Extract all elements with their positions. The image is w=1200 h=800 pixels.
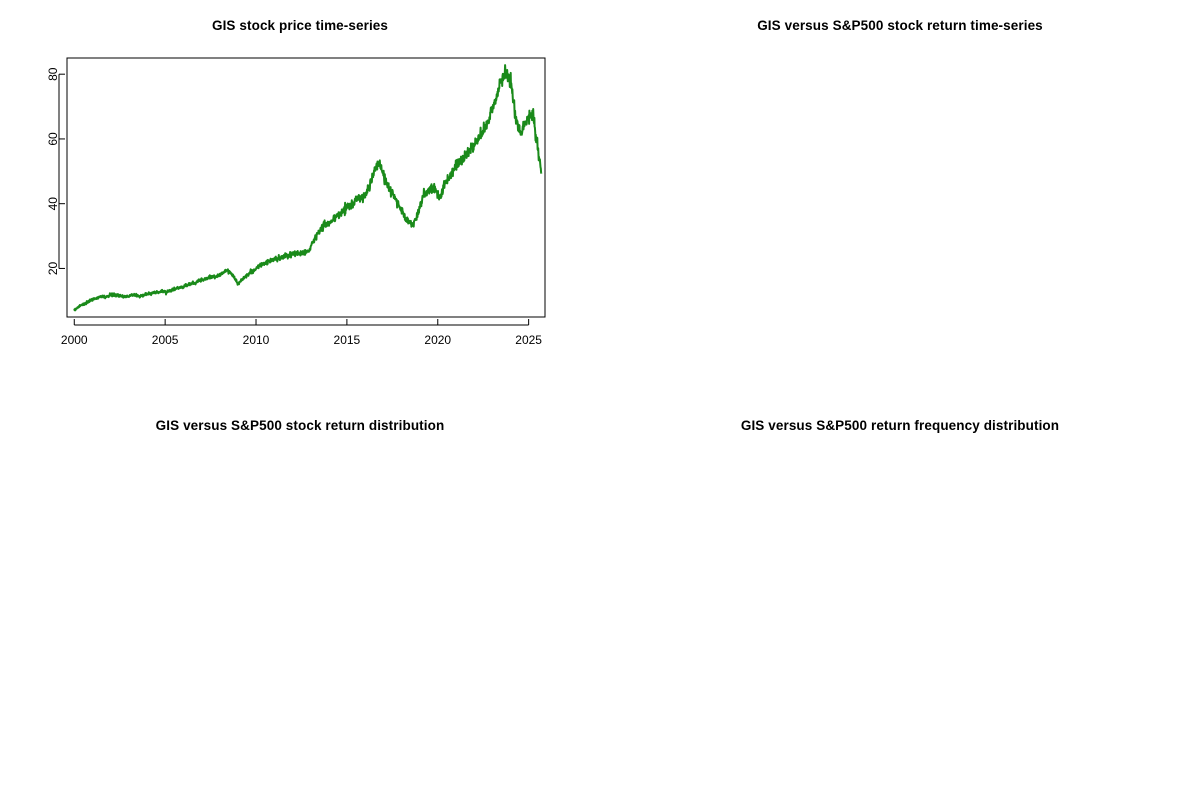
svg-text:2025: 2025: [515, 333, 542, 347]
svg-text:40: 40: [46, 197, 60, 211]
density-plot: 0102030405060-0.10-0.050.000.050.10GIS r…: [0, 400, 600, 800]
panel-returns: GIS versus S&P500 stock return time-seri…: [600, 0, 1200, 400]
figure-grid: GIS stock price time-series 204060802000…: [0, 0, 1200, 800]
svg-text:2000: 2000: [61, 333, 88, 347]
svg-text:2010: 2010: [243, 333, 270, 347]
svg-text:2020: 2020: [424, 333, 451, 347]
price-plot: 20406080200020052010201520202025: [0, 0, 600, 400]
svg-text:80: 80: [46, 67, 60, 81]
panel-price: GIS stock price time-series 204060802000…: [0, 0, 600, 400]
panel-density: GIS versus S&P500 stock return distribut…: [0, 400, 600, 800]
svg-text:20: 20: [46, 261, 60, 275]
returns-plot: -0.10-0.050.000.050.10200020052010201520…: [600, 0, 1200, 400]
panel-histogram: GIS versus S&P500 return frequency distr…: [600, 400, 1200, 800]
svg-text:2015: 2015: [334, 333, 361, 347]
histogram-plot: 0500100015002000frequency[-0.128,-0.12)[…: [600, 400, 1200, 800]
svg-text:2005: 2005: [152, 333, 179, 347]
svg-text:60: 60: [46, 132, 60, 146]
